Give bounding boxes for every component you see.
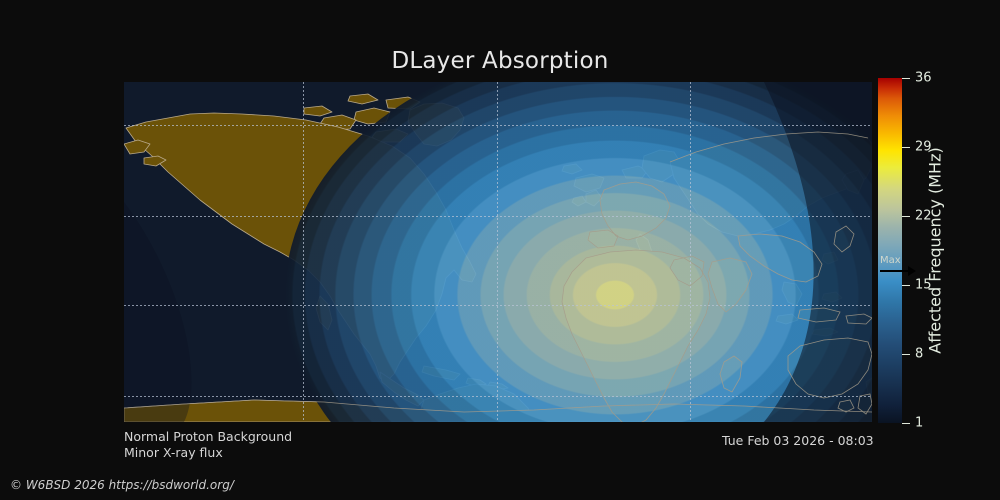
colorbar-tick [902,354,910,355]
colorbar-tick [902,78,910,79]
timestamp: Tue Feb 03 2026 - 08:03 [722,433,874,448]
colorbar[interactable] [878,78,902,423]
colorbar-axis-label-text: Affected Frequency (MHz) [926,147,945,353]
status-line-xray: Minor X-ray flux [124,445,292,461]
world-map[interactable] [124,82,872,422]
colorbar-tick [902,423,910,424]
status-text: Normal Proton Background Minor X-ray flu… [124,429,292,461]
colorbar-tick [902,147,910,148]
colorbar-gradient [878,78,902,423]
colorbar-tick [902,216,910,217]
status-line-proton: Normal Proton Background [124,429,292,445]
map-canvas [124,82,872,422]
absorption-footprint [285,82,872,422]
colorbar-axis-label: Affected Frequency (MHz) [915,0,955,500]
credit-line: © W6BSD 2026 https://bsdworld.org/ [10,478,234,492]
colorbar-tick [902,285,910,286]
page-title: DLayer Absorption [0,48,1000,74]
